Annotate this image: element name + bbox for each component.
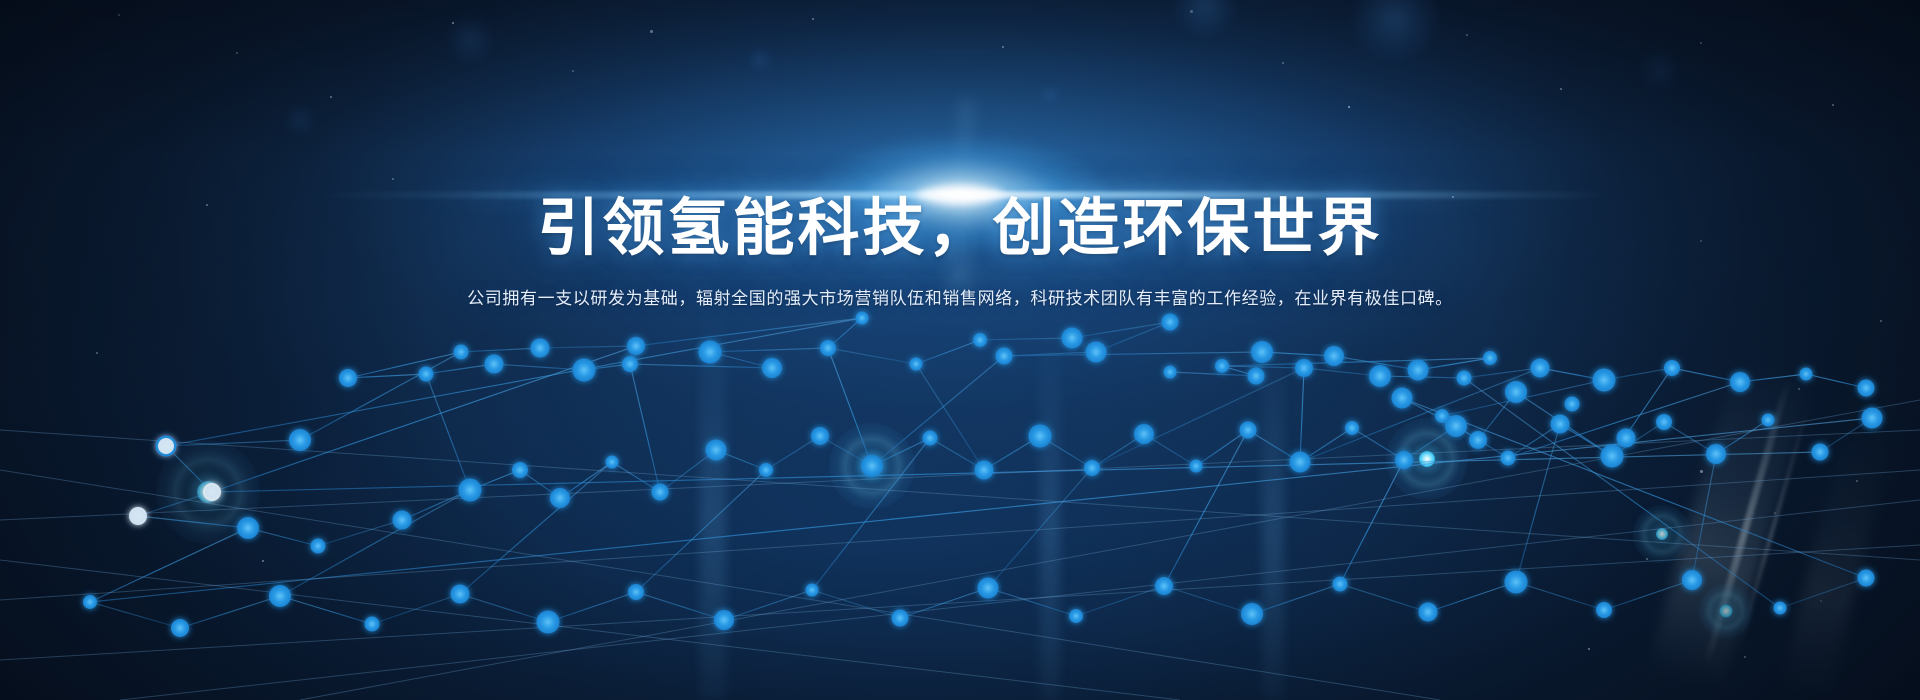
star-particle (572, 70, 574, 72)
network-node (1457, 371, 1472, 386)
network-edge (636, 470, 766, 592)
network-node (806, 584, 819, 597)
network-node (1706, 444, 1726, 464)
network-edge (548, 592, 636, 622)
network-edge (1040, 436, 1092, 468)
network-edge (138, 516, 248, 528)
star-particle (812, 18, 814, 20)
glow-node-halo (829, 423, 915, 509)
network-node (129, 507, 147, 525)
network-node (892, 610, 909, 627)
network-edge (630, 364, 660, 492)
star-particle (1832, 104, 1834, 106)
network-edge (1004, 352, 1262, 356)
network-edge (988, 468, 1092, 588)
glow-node-halo (1386, 418, 1468, 500)
network-edge (1540, 368, 1604, 380)
network-node (1084, 460, 1100, 476)
network-edge (1672, 368, 1740, 382)
star-particle (96, 352, 98, 354)
network-node (759, 463, 773, 477)
star-particle (1560, 88, 1562, 90)
background-top-shade (0, 0, 1920, 700)
glow-node-core (864, 458, 881, 475)
network-edge (1612, 368, 1672, 456)
network-node (1241, 603, 1263, 625)
network-edge (724, 590, 812, 620)
glow-node-far-right (1633, 505, 1691, 563)
network-edge (1248, 430, 1300, 462)
network-node (83, 595, 97, 609)
background-glow-wash (0, 0, 1920, 700)
network-node (1596, 602, 1612, 618)
diagonal-light-beam-soft (1779, 418, 1895, 700)
network-node (1601, 445, 1624, 468)
network-edge (710, 348, 828, 352)
network-edge (630, 364, 772, 368)
network-edge (584, 364, 630, 370)
network-node (1483, 351, 1497, 365)
glow-node-center (829, 423, 915, 509)
network-node-highlight (203, 483, 221, 501)
network-node (1251, 341, 1273, 363)
network-node (1682, 570, 1702, 590)
network-edge (300, 352, 461, 440)
glow-node-halo (156, 440, 260, 544)
star-particle (1700, 42, 1702, 44)
network-sweep-line (300, 400, 1920, 700)
network-node (820, 340, 836, 356)
network-node (1617, 429, 1636, 448)
network-sweep-line (0, 430, 1920, 520)
network-edge (1442, 380, 1604, 416)
network-node (1392, 388, 1413, 409)
network-edge (460, 462, 612, 594)
network-edge (828, 318, 862, 348)
star-particle (1744, 656, 1746, 658)
network-edge (138, 492, 212, 516)
network-edge (348, 352, 461, 378)
network-edge (1196, 430, 1248, 466)
network-edge (828, 348, 872, 466)
star-particle (1880, 320, 1882, 322)
network-node (451, 585, 470, 604)
star-particle (452, 22, 454, 24)
network-edge (916, 364, 984, 470)
network-node (1324, 346, 1344, 366)
network-edge (980, 338, 1072, 340)
glow-node-left (156, 440, 260, 544)
network-edge (1692, 454, 1716, 580)
bokeh-orb (282, 102, 318, 138)
hero-headline: 引领氢能科技，创造环保世界 (0, 196, 1920, 263)
glow-node-right (1386, 418, 1468, 500)
network-edge (1820, 418, 1872, 452)
network-node (550, 488, 570, 508)
network-node (419, 367, 434, 382)
network-edge (812, 438, 930, 590)
network-edge (1418, 358, 1490, 370)
network-node (1215, 359, 1229, 373)
network-edge (872, 438, 930, 466)
bokeh-orb (444, 14, 496, 66)
network-edge (636, 318, 862, 346)
particle-network-svg (0, 0, 1920, 700)
network-edge (426, 374, 470, 490)
network-node (1505, 571, 1528, 594)
network-edge (988, 588, 1076, 616)
network-edge (90, 602, 180, 628)
network-edge (1300, 428, 1352, 462)
network-edge (470, 470, 520, 490)
network-edge (166, 440, 300, 446)
network-edge-group (0, 318, 1920, 700)
network-edge (1402, 398, 1456, 426)
network-edge (1508, 382, 1740, 458)
network-edge (612, 462, 660, 492)
network-node (1762, 414, 1775, 427)
network-edge (1222, 358, 1490, 366)
network-node (910, 358, 923, 371)
network-node (978, 578, 999, 599)
network-node (1858, 380, 1875, 397)
star-particle (330, 96, 332, 98)
network-edge (494, 364, 584, 370)
network-edge (1508, 424, 1560, 458)
network-node (861, 455, 883, 477)
network-node (485, 355, 504, 374)
star-particle (1588, 648, 1590, 650)
network-edge (460, 594, 548, 622)
network-edge (90, 418, 1872, 602)
network-node (1240, 422, 1257, 439)
star-particle (262, 560, 264, 562)
network-edge (1428, 582, 1516, 612)
star-particle (1774, 512, 1776, 514)
network-node (1551, 415, 1570, 434)
network-edge (212, 346, 636, 492)
network-edge (1404, 426, 1456, 460)
glow-node-core (1656, 528, 1668, 540)
network-node (269, 585, 291, 607)
network-edge (280, 596, 372, 624)
network-edge (766, 436, 820, 470)
network-edge (660, 450, 716, 492)
network-node (856, 312, 869, 325)
diagonal-light-beam-thin (1703, 377, 1792, 667)
star-particle (1820, 600, 1822, 602)
network-node (762, 358, 782, 378)
network-edge (1664, 422, 1716, 454)
network-node (1664, 360, 1680, 376)
network-node (1469, 431, 1487, 449)
network-node (1395, 451, 1413, 469)
network-node-highlight (158, 438, 174, 454)
network-node (1505, 381, 1527, 403)
network-edge (1456, 426, 1508, 458)
network-node (811, 427, 829, 445)
diagonal-light-beam-wide (1646, 356, 1812, 695)
network-node (706, 440, 727, 461)
network-edge (1164, 430, 1248, 586)
network-edge (180, 596, 280, 628)
network-edge (812, 590, 900, 618)
network-edge (1004, 352, 1096, 356)
network-sweep-line (0, 560, 1180, 700)
bokeh-orb (746, 46, 774, 74)
light-shaft-1 (700, 300, 726, 700)
network-node (393, 511, 412, 530)
network-edge (280, 490, 470, 596)
network-edge (1170, 372, 1256, 376)
star-particle (1282, 62, 1284, 64)
network-node (1069, 609, 1083, 623)
network-edge (820, 436, 872, 466)
network-node (1248, 368, 1265, 385)
network-node (973, 333, 987, 347)
network-edge (402, 490, 470, 520)
network-edge (348, 374, 426, 378)
network-node (156, 436, 177, 457)
network-edge (1604, 368, 1672, 380)
network-edge (560, 462, 612, 498)
network-node (1086, 342, 1107, 363)
star-particle (1002, 46, 1004, 48)
network-edge (1740, 374, 1806, 382)
network-edge (1340, 460, 1404, 584)
star-particle (1646, 558, 1648, 560)
network-sweep-line (0, 430, 1920, 560)
star-particle (118, 14, 120, 16)
network-edge (710, 352, 772, 368)
network-edge (1612, 422, 1664, 456)
network-sweep-line (0, 470, 1920, 600)
network-node (1029, 425, 1052, 448)
network-node (339, 369, 357, 387)
network-edge (1252, 584, 1340, 614)
network-node-group (83, 312, 1882, 637)
network-node (652, 484, 669, 501)
network-node (1531, 359, 1550, 378)
network-node (1862, 408, 1883, 429)
network-node (1062, 328, 1083, 349)
network-node (606, 456, 619, 469)
network-node (1162, 314, 1179, 331)
network-node (1800, 368, 1813, 381)
network-node (1369, 365, 1391, 387)
network-edge (248, 528, 318, 546)
network-edge (1096, 322, 1170, 352)
network-node (1435, 409, 1449, 423)
network-edge (930, 438, 984, 470)
star-particle (1856, 480, 1858, 482)
network-edge (1164, 586, 1252, 614)
network-edge (1464, 378, 1780, 608)
star-particle (1798, 388, 1800, 390)
network-node (996, 348, 1013, 365)
network-edge (828, 348, 916, 364)
network-node (627, 337, 645, 355)
network-edge (1304, 368, 1380, 376)
network-node (1858, 570, 1875, 587)
network-node (628, 584, 644, 600)
network-node (622, 356, 638, 372)
network-node (537, 611, 560, 634)
network-edge (1780, 578, 1866, 608)
network-node (171, 619, 189, 637)
network-node (1812, 444, 1829, 461)
network-edge (1076, 586, 1164, 616)
star-particle (236, 52, 238, 54)
network-node (714, 610, 734, 630)
star-particle (1700, 470, 1703, 473)
network-edge (916, 340, 980, 364)
network-node (1190, 460, 1203, 473)
network-edge (984, 436, 1040, 470)
network-edge (1402, 398, 1866, 578)
bokeh-orb (1038, 83, 1062, 107)
star-particle (1466, 34, 1468, 36)
network-node (289, 429, 311, 451)
light-shaft-2 (1040, 320, 1060, 700)
diagonal-light-beam-thin-2 (1738, 404, 1811, 645)
network-node (237, 517, 259, 539)
network-node (365, 617, 380, 632)
network-edge (900, 588, 988, 618)
network-node (1134, 424, 1154, 444)
network-edge (1072, 322, 1170, 338)
network-node (1164, 366, 1177, 379)
bokeh-orb (1171, 0, 1239, 40)
network-edge (636, 592, 724, 620)
network-edge (1092, 368, 1304, 468)
bokeh-orb (1638, 48, 1682, 92)
network-node (531, 339, 550, 358)
network-edge (1340, 584, 1428, 612)
network-edge (1352, 428, 1404, 460)
network-edge (1604, 580, 1692, 610)
network-node (1290, 452, 1311, 473)
glow-node-halo (1699, 584, 1753, 638)
network-node (1565, 397, 1580, 412)
network-edge (318, 520, 402, 546)
network-node (1774, 602, 1787, 615)
network-edge (461, 348, 540, 352)
network-node (699, 341, 722, 364)
network-edge (1262, 352, 1334, 356)
network-node (1501, 451, 1516, 466)
network-edge (166, 318, 862, 446)
network-sweep-line (0, 470, 1440, 700)
network-edge (1380, 376, 1464, 378)
glow-node-beam-tip (1699, 584, 1753, 638)
network-node (1419, 603, 1438, 622)
network-sweep-line (120, 500, 1920, 700)
network-edge (540, 346, 636, 348)
network-node (1295, 359, 1313, 377)
network-node (1730, 372, 1750, 392)
network-edge (1300, 368, 1304, 462)
network-node (975, 461, 994, 480)
network-edge (1442, 416, 1478, 440)
network-edge (1516, 424, 1560, 582)
network-node (512, 462, 528, 478)
network-edge (872, 356, 1004, 466)
network-node-highlight (129, 507, 147, 525)
hero-subline: 公司拥有一支以研发为基础，辐射全国的强大市场营销队伍和销售网络，科研技术团队有丰… (0, 285, 1920, 312)
star-particle (392, 178, 394, 180)
vignette-overlay (0, 0, 1920, 700)
network-edge (1222, 366, 1304, 368)
network-node (311, 539, 326, 554)
star-particle (650, 30, 653, 33)
network-edge (1806, 374, 1866, 388)
network-edge (1092, 434, 1144, 468)
network-edge (520, 470, 560, 498)
network-node (454, 345, 469, 360)
network-node (1155, 577, 1173, 595)
glow-node-core (1419, 451, 1435, 467)
glow-node-core (197, 481, 219, 503)
glow-node-halo (1633, 505, 1691, 563)
network-edge (1144, 434, 1196, 466)
network-edge (1300, 368, 1540, 462)
network-node (205, 485, 219, 499)
network-edge (90, 528, 248, 602)
hero-banner: 引领氢能科技，创造环保世界 公司拥有一支以研发为基础，辐射全国的强大市场营销队伍… (0, 0, 1920, 700)
hero-copy: 引领氢能科技，创造环保世界 公司拥有一支以研发为基础，辐射全国的强大市场营销队伍… (0, 196, 1920, 312)
network-edge (212, 452, 1820, 492)
network-edge (1560, 424, 1612, 456)
star-particle (1190, 10, 1193, 13)
network-node (1333, 577, 1348, 592)
network-node (1345, 421, 1359, 435)
network-node (923, 431, 938, 446)
network-edge (716, 450, 766, 470)
network-node (1656, 414, 1672, 430)
network-node (459, 479, 482, 502)
network-edge (1516, 392, 1612, 456)
star-particle (1348, 106, 1350, 108)
light-shaft-3 (1262, 330, 1284, 700)
background-lower-wash (0, 0, 1920, 700)
network-sweep-line (0, 545, 1920, 660)
network-node (1593, 369, 1616, 392)
network-edge (1334, 356, 1418, 370)
network-edge (1516, 582, 1604, 610)
network-edge (166, 446, 212, 492)
network-node (573, 359, 596, 382)
network-node (1445, 415, 1467, 437)
network-edge (372, 594, 460, 624)
network-edge (426, 364, 494, 374)
network-edge (1222, 366, 1256, 376)
network-edge (1478, 392, 1516, 440)
network-edge (1716, 420, 1768, 454)
network-node (1408, 360, 1429, 381)
glow-node-core (1720, 605, 1733, 618)
network-edge (1464, 368, 1540, 378)
bokeh-orb (1349, 0, 1441, 64)
